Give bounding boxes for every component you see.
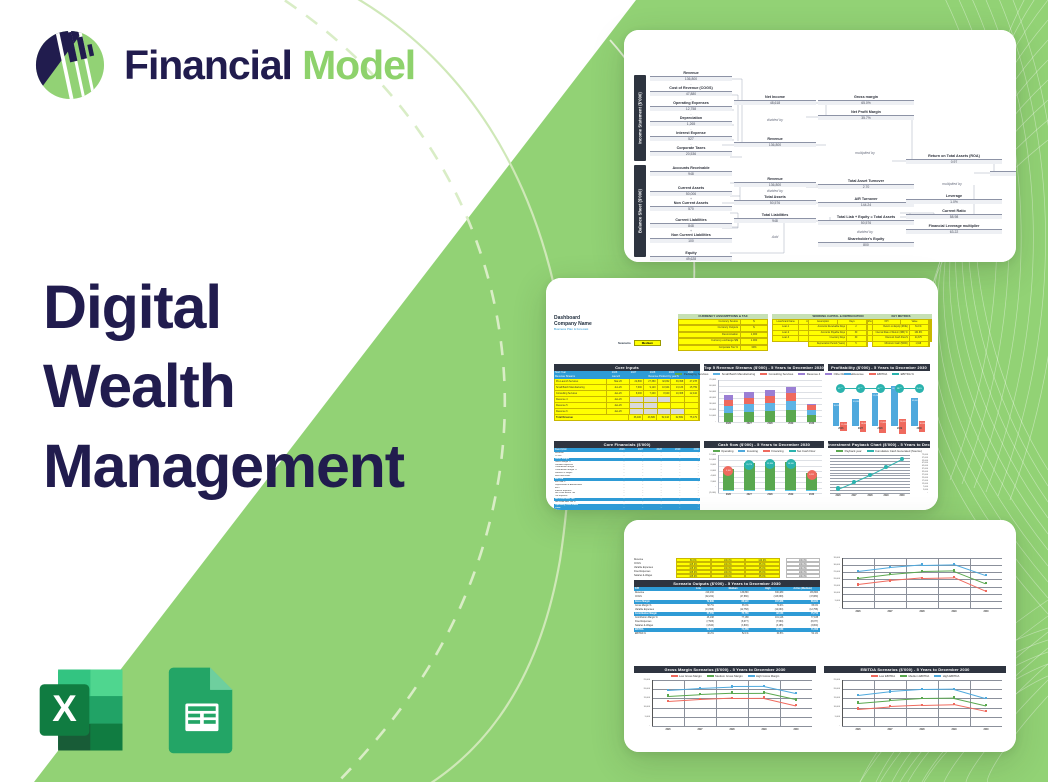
y-tick-label: 17,000	[910, 480, 928, 482]
table-cell	[671, 403, 685, 408]
y-tick-label: 22,000	[910, 477, 928, 479]
y-tick-label: 10,000	[704, 415, 716, 417]
bar-segment	[765, 411, 775, 422]
table-cell: Loan 1	[773, 325, 799, 329]
x-tick-label: 2027	[851, 428, 871, 430]
table-cell	[671, 397, 685, 402]
legend-item: Cumulative Cash Generated (Source)	[867, 449, 922, 453]
chart-plot: 12,00010,0008,0006,0004,0002,000-(2,000)…	[704, 455, 824, 501]
row-label: Salaries & Wages	[634, 574, 676, 578]
brand-name-part1: Financial	[124, 42, 292, 88]
bar-label: 15,100	[841, 424, 847, 426]
legend-swatch	[836, 450, 843, 452]
key-metrics-panel: KEY METRICSKPIValueReturn on Equity (ROE…	[872, 314, 930, 347]
table-row: Corporate Tax %30%	[678, 345, 768, 351]
dashboard-sheet: Dashboard Company Name Business Plan & F…	[546, 278, 938, 510]
y-tick-label: 15,000	[634, 697, 650, 699]
y-tick-label: -	[824, 725, 840, 727]
core-financials-title: Core Financials ($'000)	[554, 441, 700, 448]
y-tick-label: 35,000	[824, 557, 840, 559]
cash-flow-chart: Cash flow ($'000) - 5 Years to December …	[704, 441, 824, 503]
legend-swatch	[675, 373, 682, 375]
table-cell: 30	[847, 331, 867, 335]
table-cell: Depreciation Period (Years)	[809, 342, 847, 346]
y-tick-label: 20,000	[704, 409, 716, 411]
x-tick-label: 2026	[842, 611, 874, 613]
node-current-liabilities: Current Liabilities848	[650, 218, 732, 228]
legend-swatch	[671, 675, 678, 677]
y-tick-label: 8,000	[704, 464, 716, 466]
x-tick-label: 2030	[780, 729, 812, 731]
legend-item: Consulting Services	[760, 372, 793, 376]
y-tick-label: 5,000	[634, 716, 650, 718]
operator-divided-by-2: divided by	[740, 189, 810, 193]
node-current-assets: Current Assets50,006	[650, 186, 732, 196]
row-label: Pre-Launch Services	[555, 379, 607, 384]
operator-multiplied-by-2: multiplied by	[917, 182, 987, 186]
y-tick-label: 20,000	[824, 688, 840, 690]
bar-base	[765, 490, 776, 491]
platform-icons: X	[36, 664, 247, 756]
dashboard-screenshot[interactable]: Dashboard Company Name Business Plan & F…	[546, 278, 938, 510]
bar-segment	[807, 415, 817, 422]
y-tick-label: 30,000	[824, 564, 840, 566]
bar-label: 21,000	[880, 422, 886, 424]
table-cell: Loan 2	[773, 331, 799, 335]
bar-segment	[765, 403, 775, 411]
table-row: Minimum Cash ($'000)1,918	[872, 342, 930, 347]
y-tick-label: 30,000	[704, 403, 716, 405]
table-cell: Accounts Payable Days	[809, 331, 847, 335]
legend-swatch	[713, 450, 720, 452]
scenario-overview-chart: 35,00030,00025,00020,00015,00010,0005,00…	[824, 558, 1006, 626]
table-cell: 6,000	[630, 391, 644, 396]
legend-item: Investing	[738, 449, 758, 453]
chart-title: Top 5 Revenue Streams ($'000) - 5 Years …	[704, 364, 824, 371]
bar-segment	[724, 406, 734, 413]
value-bubble: 8,211	[807, 470, 817, 480]
legend-swatch	[844, 373, 851, 375]
table-cell	[685, 397, 699, 402]
scenario-value[interactable]: Medium	[634, 340, 661, 346]
x-tick-label: 2027	[874, 729, 906, 731]
dashboard-header: Dashboard Company Name Business Plan & F…	[554, 315, 674, 331]
legend-label: Consulting Services	[769, 372, 794, 376]
x-tick-label: 2030	[801, 494, 822, 496]
x-tick-label: 2028	[716, 729, 748, 731]
x-tick-label: 2030	[801, 423, 822, 425]
legend-swatch	[789, 450, 796, 452]
legend-item: Revenue 4	[798, 372, 820, 376]
legend-label: Financing	[771, 449, 783, 453]
x-tick-label: 2026	[830, 495, 846, 497]
table-cell: 2	[847, 325, 867, 329]
bar-segment	[765, 396, 775, 403]
legend-swatch	[871, 675, 878, 677]
working-capital-depreciation-panel: WORKING CAPITAL & DEPRECIATIONAssumption…	[808, 314, 868, 347]
row-launch: Jan-26	[607, 397, 630, 402]
node-non-current-liabilities: Non Current Liabilities100	[650, 233, 732, 243]
node-gross-margin: Gross margin65.0%	[818, 95, 914, 105]
y-tick-label: 70,000	[704, 379, 716, 381]
row-launch: Jan-26	[607, 409, 630, 414]
x-tick-label: 2030	[970, 729, 1002, 731]
table-cell: –	[663, 507, 682, 510]
gross-margin-scenarios-chart: Gross Margin Scenarios ($'000) - 5 Years…	[634, 666, 816, 744]
x-tick-label: 2029	[780, 494, 801, 496]
legend-label: Medium EBITDA	[908, 674, 929, 678]
legend-item: Operating	[713, 449, 734, 453]
table-cell: 22,800	[630, 379, 644, 384]
bar-segment	[744, 398, 754, 404]
node-total-liabilities: Total Liabilities948	[734, 213, 816, 223]
bar-revenue	[852, 399, 859, 426]
node-total-liab-equity: Total Liab + Equity = Total Assets50,576	[818, 215, 914, 225]
dashboard-subtitle: Business Plan & Forecast	[554, 327, 674, 331]
node-revenue: Revenue136,800	[650, 71, 732, 81]
node-cogs: Cost of Revenue (COGS)47,880	[650, 86, 732, 96]
table-cell: 7,200	[644, 391, 658, 396]
y-tick-label: 20,000	[824, 578, 840, 580]
y-tick-label: 15,000	[824, 697, 840, 699]
legend-item: Financing	[763, 449, 784, 453]
line-marker	[985, 704, 987, 706]
row-launch: Jan-26	[607, 403, 630, 408]
table-cell	[658, 403, 672, 408]
table-cell: 44,375	[910, 336, 929, 340]
table-cell: 36,400	[629, 415, 643, 420]
dupont-analysis-screenshot[interactable]: Income Statement ($'000) Balance Sheet (…	[624, 30, 1016, 262]
x-tick-label: 2028	[906, 611, 938, 613]
table-cell	[658, 409, 672, 414]
table-cell: Internal Rate of Return (IRR) %	[873, 331, 910, 335]
investment-payback-chart: Investment Payback Chart ($'000) - 5 Yea…	[828, 441, 930, 503]
core-financials-table: Core Financials ($'000) Description20262…	[554, 441, 700, 510]
table-cell: 32,832	[658, 379, 672, 384]
line-segment	[922, 564, 954, 565]
value-bubble: 33,770	[744, 460, 754, 470]
row-value: 30%	[740, 346, 767, 350]
bar-segment	[724, 400, 734, 406]
legend-swatch	[763, 450, 770, 452]
row-label: Corporate Tax %	[679, 346, 740, 350]
row-launch: Jan-26	[607, 391, 630, 396]
legend-swatch	[707, 675, 714, 677]
x-tick-label: 2028	[906, 729, 938, 731]
node-current-ratio: Current Ratio58.98	[906, 209, 1002, 219]
legend-swatch	[892, 373, 899, 375]
chart-legend: OperatingInvestingFinancingNet Cash Flow	[704, 449, 824, 453]
table-cell: Minimum Cash ($'000)	[873, 342, 910, 346]
table-cell: 7,600	[630, 385, 644, 390]
table-cell	[630, 409, 644, 414]
financial-model-circle-logo	[33, 28, 107, 102]
table-cell	[685, 403, 699, 408]
chart-title: Gross Margin Scenarios ($'000) - 5 Years…	[634, 666, 816, 673]
legend-swatch	[748, 675, 755, 677]
table-cell: 27,360	[644, 379, 658, 384]
table-cell	[644, 409, 658, 414]
column-header: Loan/Grant Name	[773, 320, 799, 324]
bar-label: 52,416	[873, 395, 879, 397]
row-label: Currency exchange $/$	[679, 339, 740, 343]
value-bubble: 38,100	[786, 459, 796, 469]
legend-label: Revenue	[853, 372, 864, 376]
table-cell: –	[681, 507, 700, 510]
panel-title: WORKING CAPITAL & DEPRECIATION	[808, 314, 868, 319]
microsoft-excel-icon: X	[36, 664, 128, 756]
table-cell: 100.0%	[711, 574, 746, 578]
legend-label: Payback year	[845, 449, 862, 453]
table-cell: 9,120	[644, 385, 658, 390]
chart-legend: Payback yearCumulative Cash Generated (S…	[828, 449, 930, 453]
legend-label: EBITDA %	[901, 372, 914, 376]
y-tick-label: 10,000	[704, 459, 716, 461]
core-inputs-body: Start Year20262027202820292030Revenue St…	[554, 371, 700, 421]
y-tick-label: 52,000	[910, 460, 928, 462]
table-cell: 1,918	[910, 342, 929, 346]
chart-plot: 25,00020,00015,00010,0005,000-2026202720…	[824, 680, 1006, 742]
table-cell: –	[644, 507, 663, 510]
legend-swatch	[869, 373, 876, 375]
table-cell	[644, 397, 658, 402]
x-tick-label: 2029	[748, 729, 780, 731]
bar-segment	[807, 404, 817, 405]
legend-item: Packaging Services	[675, 372, 708, 376]
x-tick-label: 2026	[652, 729, 684, 731]
page-title: Digital Wealth Management	[43, 268, 404, 506]
legend-label: High EBITDA	[943, 674, 960, 678]
table-cell	[630, 397, 644, 402]
x-tick-label: 2027	[684, 729, 716, 731]
bar-label: 16,000	[920, 423, 926, 425]
y-tick-label: -	[704, 421, 716, 423]
y-tick-label: 57,000	[910, 457, 928, 459]
table-cell: Accounts Receivable Days	[809, 325, 847, 329]
table-cell: 8,640	[658, 391, 672, 396]
scenario-assumptions-table: Revenue80.0%100.0%120.0%100.0%COGS105.0%…	[634, 558, 820, 578]
bar-segment	[744, 404, 754, 411]
chart-plot: 25,00020,00015,00010,0005,000-2026202720…	[634, 680, 816, 742]
node-revenue-2: Revenue136,800	[734, 137, 816, 147]
column-header: Assumption	[809, 320, 838, 324]
row-launch: Jun-26	[607, 385, 630, 390]
x-tick-label: 2030	[909, 428, 929, 430]
legend-item: High EBITDA	[934, 674, 959, 678]
table-cell: 39,398	[671, 379, 685, 384]
legend-item: Payback year	[836, 449, 861, 453]
line-segment	[922, 577, 954, 578]
row-value: $	[740, 320, 767, 324]
row-label: Denomination	[679, 333, 740, 337]
table-cell: 62,899	[671, 415, 685, 420]
bar-segment	[786, 401, 796, 410]
scenario-outputs-body: KPILowMediumHighActive (Medium)Revenue21…	[634, 587, 820, 636]
table-cell: 60.5%	[751, 632, 786, 636]
y-tick-label: 20,000	[634, 688, 650, 690]
poster-canvas: Financial Model Digital Wealth Managemen…	[0, 0, 1048, 782]
x-tick-label: 2026	[842, 729, 874, 731]
table-cell	[685, 409, 699, 414]
table-cell: 164.6%	[910, 331, 929, 335]
line-segment	[922, 704, 954, 705]
legend-label: EBITDA	[877, 372, 887, 376]
table-cell: 105.0%	[676, 574, 711, 578]
operator-add: Add	[740, 235, 810, 239]
node-net-income: Net Income48,618	[734, 95, 816, 105]
bar-segment	[786, 410, 796, 422]
chart-legend: Low Gross MarginMedium Gross MarginHigh …	[634, 674, 816, 678]
x-tick-label: 2029	[938, 611, 970, 613]
table-row: Depreciation Period (Years)5	[808, 342, 868, 347]
scenario-selector[interactable]: Scenario Medium	[618, 340, 661, 346]
y-tick-label: 7,000	[910, 486, 928, 488]
legend-swatch	[900, 675, 907, 677]
column-header: KPI	[873, 320, 901, 324]
bar-revenue	[872, 393, 879, 426]
chart-legend: RevenueEBITDAEBITDA %	[828, 372, 930, 376]
node-equity: Equity49,628	[650, 251, 732, 261]
core-financials-body: Description20262027202820292030Revenue––…	[554, 448, 700, 510]
operator-multiplied-by-1: multiplied by	[830, 151, 900, 155]
y-tick-label: -	[634, 725, 650, 727]
bar-base	[785, 490, 796, 491]
node-corporate-taxes: Corporate Taxes20,536	[650, 146, 732, 156]
bar-segment	[744, 412, 754, 422]
legend-item: Low EBITDA	[871, 674, 895, 678]
bar-base	[744, 490, 755, 491]
node-net-profit-margin: Net Profit Margin35.7%	[818, 110, 914, 120]
legend-swatch	[738, 450, 745, 452]
table-cell: 15,759	[685, 385, 699, 390]
node-total-asset-turnover: Total Asset Turnover2.70	[818, 179, 914, 189]
table-cell: 10,944	[658, 385, 672, 390]
y-tick-label: -	[824, 607, 840, 609]
legend-swatch	[867, 450, 874, 452]
legend-item: Medium EBITDA	[900, 674, 929, 678]
bar-segment	[786, 393, 796, 400]
row-value: $	[740, 326, 767, 330]
y-tick-label: 27,000	[910, 474, 928, 476]
table-cell: 13,133	[671, 385, 685, 390]
scenario-analysis-screenshot[interactable]: Revenue80.0%100.0%120.0%100.0%COGS105.0%…	[624, 520, 1016, 752]
legend-label: Investing	[747, 449, 758, 453]
row-value: 1,000	[740, 333, 767, 337]
y-tick-label: 25,000	[824, 571, 840, 573]
y-tick-label: -	[910, 492, 928, 494]
row-label: Total Revenue	[555, 415, 629, 420]
legend-label: Operating	[721, 449, 733, 453]
y-tick-label: 25,000	[634, 679, 650, 681]
bar-segment	[724, 413, 734, 422]
x-tick-label: 2027	[739, 423, 760, 425]
row-label: Cash	[554, 507, 607, 510]
row-label: Currency Outputs	[679, 326, 740, 330]
y-tick-label: 2,000	[910, 489, 928, 491]
line-marker	[985, 590, 987, 592]
node-interest-expense: Interest Expense527	[650, 131, 732, 141]
node-ar-turnover: A/R Turnover144.24	[818, 197, 914, 207]
table-row: Salaries & Wages105.0%100.0%95.0%100.0%	[634, 574, 820, 578]
y-tick-label: 37,000	[910, 468, 928, 470]
chart-plot: 72,00057,00052,00047,00042,00037,00032,0…	[828, 455, 930, 501]
legend-swatch	[760, 373, 767, 375]
x-tick-label: 2029	[890, 428, 910, 430]
operator-divided-by-3: divided by	[830, 230, 900, 234]
legend-swatch	[934, 675, 941, 677]
chart-legend: Low EBITDAMedium EBITDAHigh EBITDA	[824, 674, 1006, 678]
operator-divided-by-1: divided by	[740, 118, 810, 122]
dupont-diagram: Income Statement ($'000) Balance Sheet (…	[634, 65, 1008, 242]
bar-segment	[807, 405, 817, 410]
row-label: Consulting Services	[555, 391, 607, 396]
y-tick-label: (2,000)	[704, 492, 716, 494]
column-header: Value	[901, 320, 929, 324]
line-marker	[795, 692, 797, 694]
y-tick-label: 32,000	[910, 471, 928, 473]
ebitda-scenarios-chart: EBITDA Scenarios ($'000) - 5 Years to De…	[824, 666, 1006, 744]
table-cell: 75,479	[685, 415, 699, 420]
row-launch: Mar-26	[607, 379, 630, 384]
table-cell: 10,368	[671, 391, 685, 396]
legend-swatch	[798, 373, 805, 375]
table-cell: 43,680	[643, 415, 657, 420]
x-tick-label: 2030	[894, 495, 910, 497]
scenario-outputs-table: Scenario Outputs ($'000) - 5 Years to De…	[634, 580, 820, 636]
bar-segment	[744, 392, 754, 397]
column-header: Days	[838, 320, 867, 324]
scenario-outputs-title: Scenario Outputs ($'000) - 5 Years to De…	[634, 580, 820, 587]
x-tick-label: 2028	[760, 423, 781, 425]
dupont-sheet: Income Statement ($'000) Balance Sheet (…	[624, 30, 1016, 262]
chart-plot: 36,40015,10041.5%43,68018,00041.2%52,416…	[828, 378, 930, 430]
row-label: EBITDA %	[634, 632, 681, 636]
node-operating-expenses: Operating Expenses12,758	[650, 101, 732, 111]
x-tick-label: 2029	[878, 495, 894, 497]
table-cell: –	[626, 507, 645, 510]
row-value: 1.000	[740, 339, 767, 343]
y-tick-label: 5,000	[824, 716, 840, 718]
legend-item: EBITDA	[869, 372, 888, 376]
legend-swatch	[713, 373, 720, 375]
legend-label: Cumulative Cash Generated (Source)	[875, 449, 922, 453]
x-tick-label: 2026	[718, 494, 739, 496]
table-cell: 12,442	[685, 391, 699, 396]
x-tick-label: 2027	[739, 494, 760, 496]
brand-logo: Financial Model	[33, 28, 415, 102]
y-tick-label: 12,000	[910, 483, 928, 485]
line-segment	[732, 692, 764, 693]
table-cell: Discount Cash Flow $	[873, 336, 910, 340]
x-tick-label: 2028	[760, 494, 781, 496]
node-total-assets: Total Assets50,576	[734, 195, 816, 205]
line-segment	[732, 698, 764, 699]
x-tick-label: 2029	[780, 423, 801, 425]
line-marker	[985, 710, 987, 712]
line-marker	[795, 698, 797, 700]
currency-assumptions-panel: CURRENCY ASSUMPTIONS & TAX Currency Sour…	[678, 314, 768, 351]
chart-title: Cash flow ($'000) - 5 Years to December …	[704, 441, 824, 448]
table-cell: 52.1%	[716, 632, 751, 636]
table-cell	[630, 403, 644, 408]
y-tick-label: 42,000	[910, 465, 928, 467]
node-non-current-assets: Non Current Assets570	[650, 201, 732, 211]
x-tick-label: 2028	[862, 495, 878, 497]
table-total-row: Total Revenue36,40043,68052,41662,89975,…	[554, 415, 700, 421]
legend-label: Low Gross Margin	[679, 674, 702, 678]
row-label: Currency Source	[679, 320, 740, 324]
bar-label: 24,000	[900, 421, 906, 423]
